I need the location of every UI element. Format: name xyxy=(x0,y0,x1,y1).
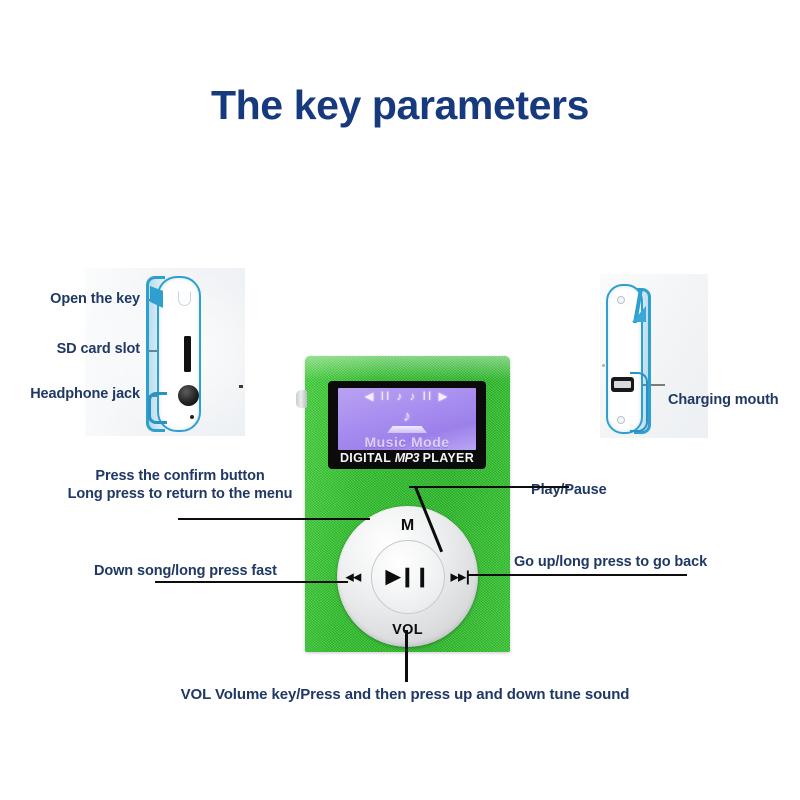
callout-open-the-key: Open the key xyxy=(20,291,140,307)
page-title: The key parameters xyxy=(0,82,800,129)
lcd-plinth-graphic xyxy=(387,426,427,433)
leader-volume xyxy=(405,630,408,682)
brand-label: DIGITAL MP3 PLAYER xyxy=(328,452,486,465)
device-clip-hinge-icon xyxy=(148,392,167,424)
leader-down-song xyxy=(155,581,348,583)
photo-speck-right xyxy=(602,364,605,367)
mp3-player-device: ◀ ⅠⅠ ♪ ♪ ⅠⅠ ▶ ♪ Music Mode DIGITAL MP3 P… xyxy=(305,356,510,652)
screw-bottom-icon xyxy=(617,416,625,424)
lcd-screen: ◀ ⅠⅠ ♪ ♪ ⅠⅠ ▶ ♪ Music Mode xyxy=(338,388,476,450)
sd-card-slot-icon xyxy=(184,336,191,372)
photo-speck xyxy=(239,385,243,388)
control-wheel[interactable]: M VOL ◂◂ ▸▸| ▶❙❙ xyxy=(337,506,478,647)
device-sheen xyxy=(305,356,510,380)
leader-confirm-button xyxy=(178,518,370,520)
screen-bezel: ◀ ⅠⅠ ♪ ♪ ⅠⅠ ▶ ♪ Music Mode DIGITAL MP3 P… xyxy=(328,381,486,469)
callout-down-song: Down song/long press fast xyxy=(94,563,277,579)
callout-confirm-line1: Press the confirm button xyxy=(60,468,300,484)
callout-headphone-jack: Headphone jack xyxy=(2,386,140,402)
previous-track-button[interactable]: ◂◂ xyxy=(346,569,361,584)
leader-play-pause xyxy=(409,486,569,488)
screw-top-icon xyxy=(617,296,625,304)
callout-volume-caption: VOL Volume key/Press and then press up a… xyxy=(150,686,660,703)
brand-suffix: PLAYER xyxy=(419,451,474,465)
callout-play-pause: Play/Pause xyxy=(531,482,607,498)
headphone-jack-icon xyxy=(178,385,199,406)
side-button-nub[interactable] xyxy=(296,390,307,408)
charging-port-icon xyxy=(611,377,634,392)
side-pinhole-icon xyxy=(190,415,194,419)
next-track-button[interactable]: ▸▸| xyxy=(451,569,470,584)
infographic-page: The key parameters Open the key SD card … xyxy=(0,0,800,800)
music-note-icon: ♪ xyxy=(403,409,411,424)
callout-sd-card-slot: SD card slot xyxy=(20,341,140,357)
brand-mp3: MP3 xyxy=(395,451,419,465)
volume-button[interactable]: VOL xyxy=(392,623,423,638)
callout-charging-mouth: Charging mouth xyxy=(668,392,779,408)
play-pause-button[interactable]: ▶❙❙ xyxy=(371,540,445,614)
callout-go-up: Go up/long press to go back xyxy=(514,554,707,570)
play-pause-icon: ▶❙❙ xyxy=(386,567,429,586)
callout-confirm-line2: Long press to return to the menu xyxy=(60,486,300,502)
lcd-top-icons: ◀ ⅠⅠ ♪ ♪ ⅠⅠ ▶ xyxy=(338,392,476,404)
brand-prefix: DIGITAL xyxy=(340,451,395,465)
menu-button[interactable]: M xyxy=(401,518,414,534)
lcd-mode-text: Music Mode xyxy=(338,435,476,449)
leader-go-up xyxy=(467,574,687,576)
open-key-notch-icon xyxy=(178,291,191,306)
